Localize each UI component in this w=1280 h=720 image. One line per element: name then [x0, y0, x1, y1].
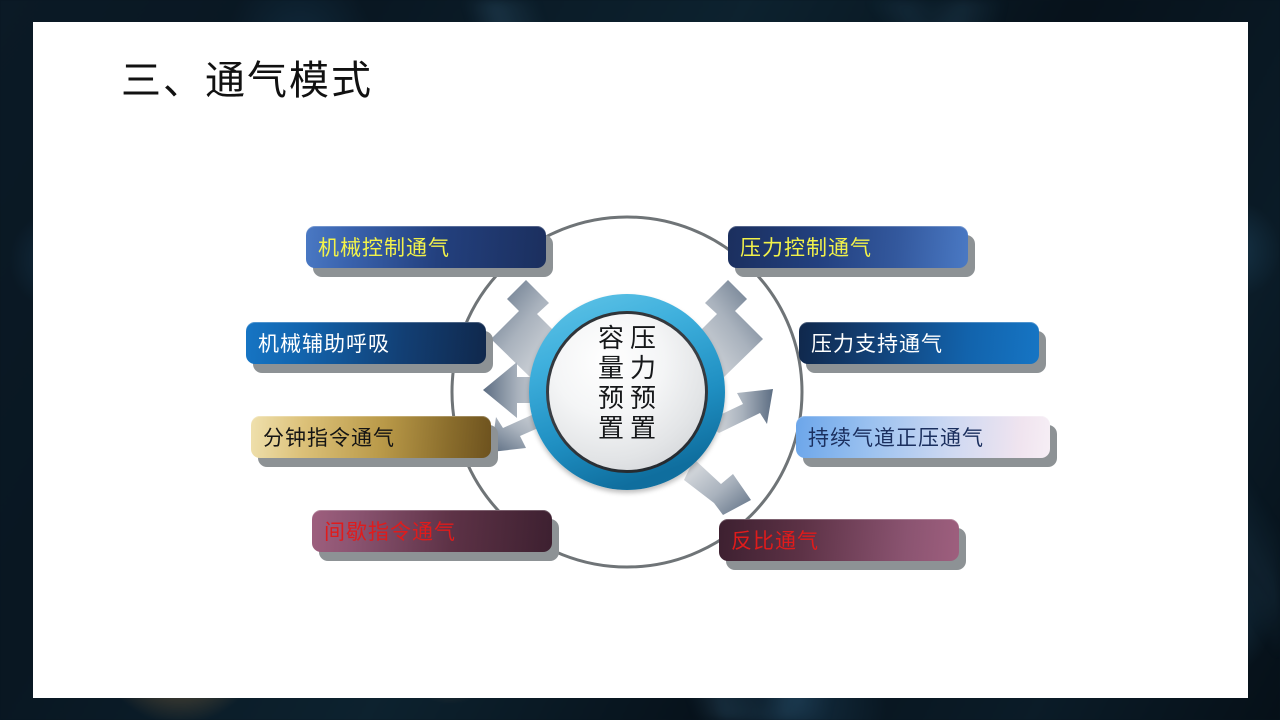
node-label: 反比通气 [719, 519, 959, 561]
node-inverse-ratio-ventilation[interactable]: 反比通气 [719, 519, 959, 561]
hub-char: 量 [598, 354, 624, 384]
slide-canvas: 三、通气模式 [33, 22, 1248, 698]
node-pressure-controlled-ventilation[interactable]: 压力控制通气 [728, 226, 968, 268]
hub-char: 预 [630, 384, 656, 414]
node-mechanical-assisted-ventilation[interactable]: 机械辅助呼吸 [246, 322, 486, 364]
node-intermittent-mandatory-ventilation[interactable]: 间歇指令通气 [312, 510, 552, 552]
hub-char: 置 [598, 414, 624, 444]
node-mechanical-controlled-ventilation[interactable]: 机械控制通气 [306, 226, 546, 268]
hub-char: 压 [630, 324, 656, 354]
node-continuous-positive-airway-pressure[interactable]: 持续气道正压通气 [796, 416, 1050, 458]
hub-char: 预 [598, 384, 624, 414]
node-label: 间歇指令通气 [312, 510, 552, 552]
node-label: 机械控制通气 [306, 226, 546, 268]
hub-disc: 容 量 预 置 压 力 预 置 [549, 314, 705, 470]
node-label: 持续气道正压通气 [796, 416, 1050, 458]
node-label: 分钟指令通气 [251, 416, 491, 458]
node-label: 压力控制通气 [728, 226, 968, 268]
node-label: 压力支持通气 [799, 322, 1039, 364]
ventilation-modes-diagram: 机械控制通气 机械辅助呼吸 分钟指令通气 间歇指令通气 压力控制通气 压力支持通… [33, 22, 1248, 698]
hub-char: 容 [598, 324, 624, 354]
ventilation-preset-hub[interactable]: 容 量 预 置 压 力 预 置 [529, 294, 725, 490]
hub-char: 置 [630, 414, 656, 444]
hub-text: 容 量 预 置 压 力 预 置 [598, 324, 656, 444]
node-minute-mandatory-ventilation[interactable]: 分钟指令通气 [251, 416, 491, 458]
hub-column-volume: 容 量 预 置 [598, 324, 624, 444]
hub-char: 力 [630, 354, 656, 384]
node-pressure-support-ventilation[interactable]: 压力支持通气 [799, 322, 1039, 364]
hub-column-pressure: 压 力 预 置 [630, 324, 656, 444]
node-label: 机械辅助呼吸 [246, 322, 486, 364]
